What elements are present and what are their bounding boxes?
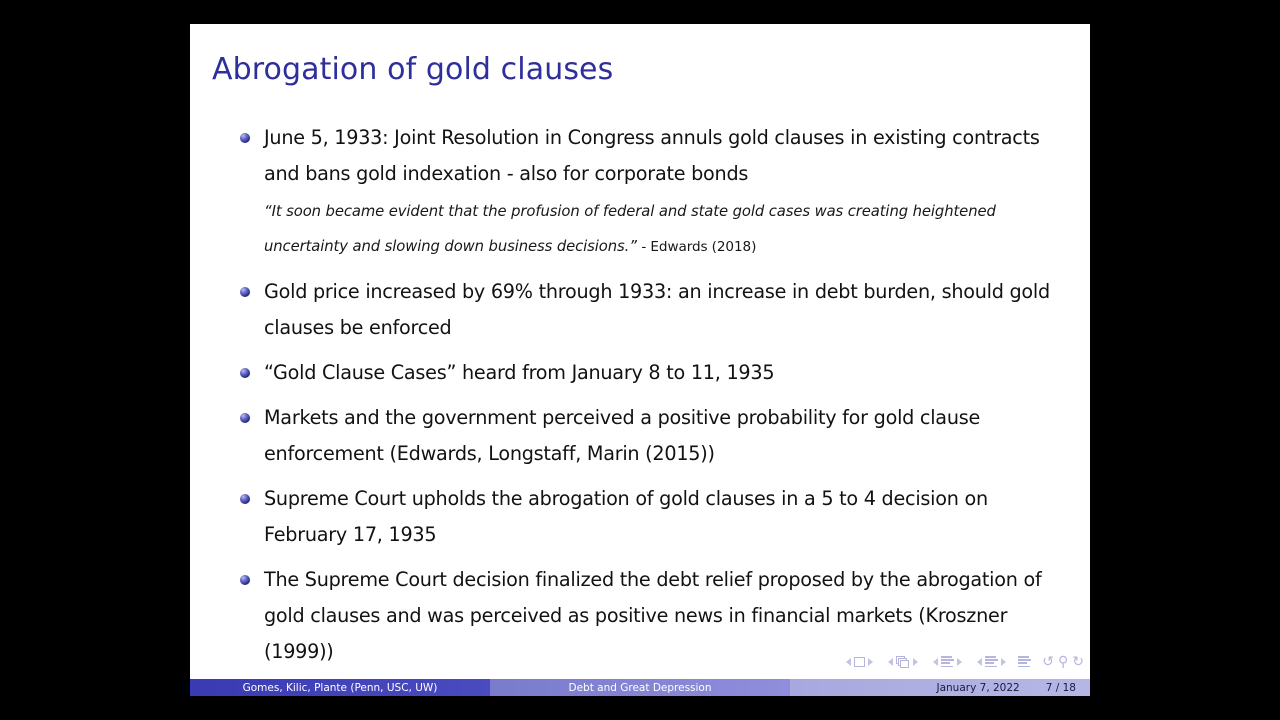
- footer-date: January 7, 2022: [937, 682, 1020, 694]
- footer-author: Gomes, Kilic, Plante (Penn, USC, UW): [190, 679, 490, 696]
- quotation-citation: - Edwards (2018): [641, 239, 756, 255]
- frame-stack-icon[interactable]: [896, 656, 910, 668]
- prev-subsection-arrow-icon[interactable]: [933, 658, 938, 666]
- list-item: June 5, 1933: Joint Resolution in Congre…: [228, 120, 1073, 265]
- footer-subject: Debt and Great Depression: [490, 679, 790, 696]
- bullet-ball-icon: [240, 413, 250, 423]
- document-navigation-group[interactable]: [1018, 656, 1031, 668]
- prev-section-arrow-icon[interactable]: [977, 658, 982, 666]
- back-arrow-icon[interactable]: ↺: [1042, 655, 1054, 669]
- quotation-block: “It soon became evident that the profusi…: [264, 194, 1073, 265]
- footer-page-number: 7 / 18: [1046, 682, 1076, 694]
- bullet-ball-icon: [240, 133, 250, 143]
- list-item: Markets and the government perceived a p…: [228, 400, 1073, 472]
- list-item-text: The Supreme Court decision finalized the…: [264, 562, 1073, 670]
- frame-navigation-group[interactable]: [885, 656, 921, 668]
- slide-square-icon[interactable]: [854, 657, 865, 667]
- list-item: Gold price increased by 69% through 1933…: [228, 274, 1073, 346]
- slide-navigation-group[interactable]: [843, 657, 876, 667]
- presentation-viewer: Abrogation of gold clauses June 5, 1933:…: [0, 0, 1280, 720]
- prev-slide-arrow-icon[interactable]: [846, 658, 851, 666]
- list-item: Supreme Court upholds the abrogation of …: [228, 481, 1073, 553]
- bullet-ball-icon: [240, 287, 250, 297]
- list-item-text: Markets and the government perceived a p…: [264, 400, 1073, 472]
- next-section-arrow-icon[interactable]: [1001, 658, 1006, 666]
- next-subsection-arrow-icon[interactable]: [957, 658, 962, 666]
- list-item-text: June 5, 1933: Joint Resolution in Congre…: [264, 120, 1073, 192]
- subsection-navigation-group[interactable]: [930, 656, 965, 668]
- bullet-ball-icon: [240, 368, 250, 378]
- section-navigation-group[interactable]: [974, 656, 1009, 668]
- search-magnifier-icon[interactable]: ⚲: [1058, 655, 1068, 669]
- list-item: “Gold Clause Cases” heard from January 8…: [228, 355, 1073, 391]
- slide-footer: Gomes, Kilic, Plante (Penn, USC, UW) Deb…: [190, 679, 1090, 696]
- prev-frame-arrow-icon[interactable]: [888, 658, 893, 666]
- next-frame-arrow-icon[interactable]: [913, 658, 918, 666]
- footer-meta: January 7, 2022 7 / 18: [790, 679, 1090, 696]
- page-title: Abrogation of gold clauses: [212, 52, 613, 87]
- next-slide-arrow-icon[interactable]: [868, 658, 873, 666]
- quotation-text: “It soon became evident that the profusi…: [264, 203, 996, 255]
- document-lines-icon[interactable]: [1018, 656, 1031, 668]
- bullet-ball-icon: [240, 494, 250, 504]
- list-item-text: “Gold Clause Cases” heard from January 8…: [264, 355, 1073, 391]
- history-navigation-group[interactable]: ↺ ⚲ ↻: [1040, 655, 1086, 669]
- list-item-text: Supreme Court upholds the abrogation of …: [264, 481, 1073, 553]
- slide-canvas: Abrogation of gold clauses June 5, 1933:…: [190, 24, 1090, 696]
- list-item: The Supreme Court decision finalized the…: [228, 562, 1073, 670]
- list-item-text: Gold price increased by 69% through 1933…: [264, 274, 1073, 346]
- section-lines-icon[interactable]: [985, 656, 998, 668]
- forward-arrow-icon[interactable]: ↻: [1072, 655, 1084, 669]
- beamer-navigation-bar[interactable]: ↺ ⚲ ↻: [843, 655, 1086, 669]
- bullet-ball-icon: [240, 575, 250, 585]
- bullet-list: June 5, 1933: Joint Resolution in Congre…: [228, 120, 1073, 679]
- subsection-lines-icon[interactable]: [941, 656, 954, 668]
